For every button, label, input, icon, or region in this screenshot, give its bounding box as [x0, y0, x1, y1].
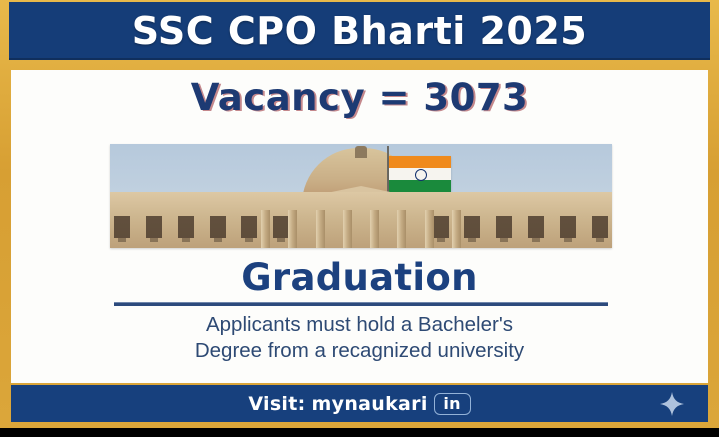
building-facade — [110, 192, 612, 248]
sparkle-icon — [660, 392, 684, 416]
ashoka-chakra-icon — [415, 169, 427, 181]
window — [592, 216, 608, 238]
tld-badge: in — [434, 393, 471, 415]
page-title: SSC CPO Bharti 2025 — [132, 9, 588, 53]
column — [452, 210, 461, 248]
header-bar: SSC CPO Bharti 2025 — [9, 2, 710, 60]
colonnade — [261, 210, 461, 248]
poster-root: SSC CPO Bharti 2025 Vacancy = 3073 — [0, 0, 719, 437]
window — [464, 216, 480, 238]
qualification-description-line-2: Degree from a recagnized university — [11, 338, 708, 364]
site-name: mynaukari — [312, 393, 428, 415]
column — [316, 210, 325, 248]
column — [425, 210, 434, 248]
window — [241, 216, 257, 238]
visit-credit: Visit: mynaukari in — [248, 393, 470, 415]
window — [560, 216, 576, 238]
window — [210, 216, 226, 238]
content-card: Vacancy = 3073 — [11, 70, 708, 383]
qualification-heading: Graduation — [11, 256, 708, 299]
window — [496, 216, 512, 238]
window — [114, 216, 130, 238]
bottom-letterbox — [0, 428, 719, 437]
vacancy-count-text: Vacancy = 3073 — [11, 78, 708, 119]
column — [370, 210, 379, 248]
window — [178, 216, 194, 238]
government-building-photo — [110, 144, 612, 248]
column — [261, 210, 270, 248]
qualification-description: Applicants must hold a Bacheler's Degree… — [11, 312, 708, 364]
section-divider — [114, 302, 608, 306]
visit-label: Visit: — [248, 393, 305, 415]
window — [146, 216, 162, 238]
column — [343, 210, 352, 248]
window — [528, 216, 544, 238]
qualification-description-line-1: Applicants must hold a Bacheler's — [11, 312, 708, 338]
dome-finial-icon — [355, 146, 367, 158]
column — [288, 210, 297, 248]
footer-bar: Visit: mynaukari in — [11, 385, 708, 422]
column — [397, 210, 406, 248]
